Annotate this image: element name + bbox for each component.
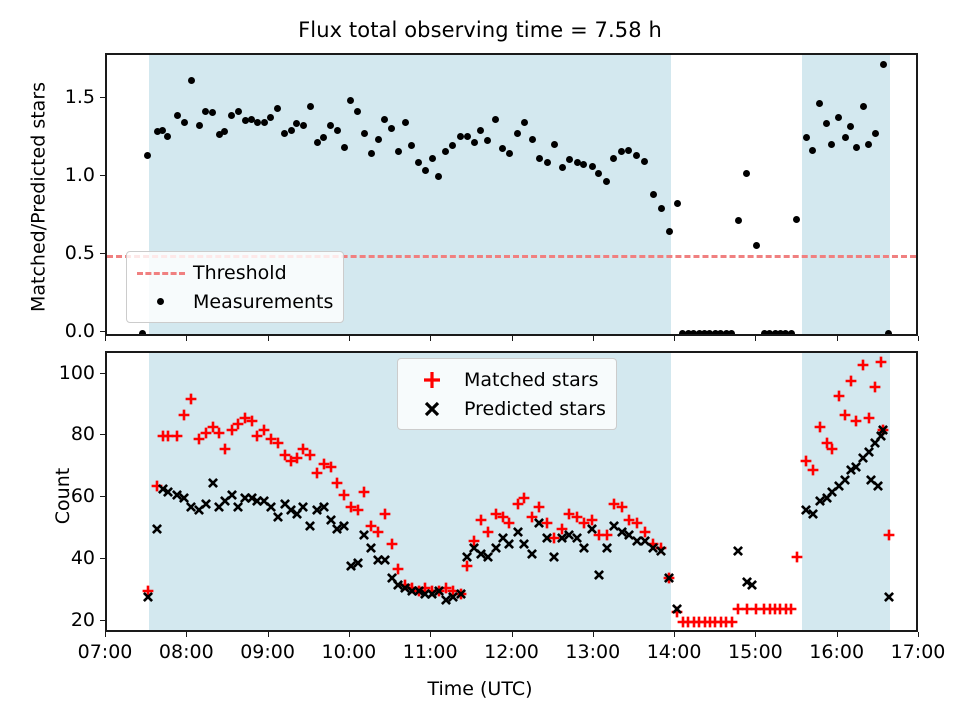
data-point-measurement: [666, 228, 673, 235]
x-axis-tick-bottom-4: [430, 632, 431, 637]
x-axis-tick-top-8: [755, 336, 756, 341]
x-axis-tick-bottom-2: [268, 632, 269, 637]
cross-marker-icon: [406, 397, 458, 421]
x-axis-tick-label: 16:00: [809, 641, 864, 663]
legend-label-matched-stars: Matched stars: [458, 369, 598, 391]
data-point-measurement: [327, 122, 334, 129]
data-point-measurement: [865, 141, 872, 148]
data-point-measurement: [492, 116, 499, 123]
data-point-measurement: [307, 103, 314, 110]
legend-label-threshold: Threshold: [187, 262, 287, 284]
data-point-measurement: [368, 150, 375, 157]
data-point-measurement: [650, 191, 657, 198]
x-axis-tick-label: 15:00: [728, 641, 783, 663]
x-axis-tick-label: 08:00: [159, 641, 214, 663]
top-panel-y-axis-tick-3: [100, 97, 105, 98]
bottom-panel-y-axis-tick-1: [100, 558, 105, 559]
data-point-measurement: [551, 141, 558, 148]
chart-title: Flux total observing time = 7.58 h: [0, 18, 960, 42]
data-point-measurement: [281, 130, 288, 137]
data-point-measurement: [381, 116, 388, 123]
top-panel-y-axis-tick-label: 0.0: [9, 320, 95, 342]
data-point-measurement: [354, 108, 361, 115]
data-point-measurement: [514, 130, 521, 137]
legend-item-predicted-stars: Predicted stars: [406, 394, 606, 423]
top-panel-y-axis-tick-label: 1.5: [9, 86, 95, 108]
x-axis-tick-top-1: [186, 336, 187, 341]
data-point-measurement: [793, 216, 800, 223]
data-point-measurement: [610, 155, 617, 162]
x-axis-label: Time (UTC): [0, 678, 960, 700]
data-point-measurement: [566, 156, 573, 163]
bottom-panel-legend: Matched stars Predicted stars: [397, 358, 617, 430]
plus-marker-icon: [406, 368, 458, 392]
data-point-measurement: [314, 139, 321, 146]
top-panel-y-axis-tick-2: [100, 175, 105, 176]
data-point-measurement: [625, 147, 632, 154]
x-axis-tick-bottom-6: [593, 632, 594, 637]
data-point-measurement: [658, 205, 665, 212]
bottom-panel-y-axis-tick-label: 80: [9, 423, 95, 445]
measurements-dot-icon: [135, 290, 187, 314]
data-point-measurement: [139, 330, 146, 336]
threshold-line-icon: [135, 261, 187, 285]
x-axis-tick-top-0: [105, 336, 106, 341]
x-axis-tick-top-3: [349, 336, 350, 341]
x-axis-tick-label: 12:00: [484, 641, 539, 663]
x-axis-tick-label: 17:00: [891, 641, 946, 663]
x-axis-tick-label: 14:00: [647, 641, 702, 663]
data-point-measurement: [885, 330, 892, 336]
data-point-measurement: [254, 119, 261, 126]
bottom-panel-y-axis-tick-label: 40: [9, 547, 95, 569]
bottom-panel-y-axis-tick-label: 20: [9, 609, 95, 631]
data-point-measurement: [529, 136, 536, 143]
x-axis-tick-bottom-1: [186, 632, 187, 637]
bottom-panel-y-axis-tick-0: [100, 620, 105, 621]
legend-item-threshold: Threshold: [135, 258, 333, 287]
data-point-measurement: [589, 163, 596, 170]
legend-label-predicted-stars: Predicted stars: [458, 398, 606, 420]
figure-container: Flux total observing time = 7.58 h Match…: [0, 0, 960, 720]
x-axis-tick-bottom-10: [918, 632, 919, 637]
x-axis-tick-label: 10:00: [322, 641, 377, 663]
data-point-measurement: [872, 130, 879, 137]
bottom-panel-y-axis-tick-4: [100, 373, 105, 374]
data-point-measurement: [181, 119, 188, 126]
data-point-measurement: [144, 152, 151, 159]
data-point-measurement: [361, 130, 368, 137]
x-axis-tick-top-5: [512, 336, 513, 341]
x-axis-tick-top-2: [268, 336, 269, 341]
x-axis-tick-bottom-7: [674, 632, 675, 637]
data-point-measurement: [388, 125, 395, 132]
bottom-panel-y-axis-tick-label: 60: [9, 485, 95, 507]
x-axis-tick-label: 07:00: [78, 641, 133, 663]
data-point-measurement: [429, 155, 436, 162]
x-axis-tick-label: 13:00: [565, 641, 620, 663]
data-point-measurement: [753, 242, 760, 249]
data-point-measurement: [402, 119, 409, 126]
data-point-measurement: [860, 103, 867, 110]
data-point-measurement: [521, 119, 528, 126]
top-panel-y-axis-tick-label: 1.0: [9, 164, 95, 186]
data-point-measurement: [274, 105, 281, 112]
legend-item-matched-stars: Matched stars: [406, 365, 606, 394]
top-panel-legend: Threshold Measurements: [126, 251, 344, 323]
x-axis-tick-bottom-3: [349, 632, 350, 637]
x-axis-tick-top-7: [674, 336, 675, 341]
data-point-measurement: [559, 164, 566, 171]
data-point-measurement: [288, 127, 295, 134]
shaded-span-2: [802, 55, 890, 334]
data-point-measurement: [743, 170, 750, 177]
bottom-panel-y-axis-tick-3: [100, 434, 105, 435]
data-point-measurement: [334, 127, 341, 134]
data-point-measurement: [880, 61, 887, 68]
bottom-panel-y-axis-tick-2: [100, 496, 105, 497]
top-panel-y-axis-tick-0: [100, 331, 105, 332]
bottom-panel-y-axis-tick-label: 100: [9, 362, 95, 384]
data-point-measurement: [196, 122, 203, 129]
data-point-measurement: [674, 200, 681, 207]
data-point-measurement: [633, 152, 640, 159]
top-panel-y-axis-tick-1: [100, 253, 105, 254]
data-point-measurement: [735, 217, 742, 224]
data-point-measurement: [375, 136, 382, 143]
data-point-measurement: [300, 122, 307, 129]
data-point-measurement: [471, 139, 478, 146]
x-axis-tick-top-10: [918, 336, 919, 341]
x-axis-tick-label: 11:00: [403, 641, 458, 663]
data-point-measurement: [261, 119, 268, 126]
top-panel-y-axis-tick-label: 0.5: [9, 242, 95, 264]
legend-label-measurements: Measurements: [187, 291, 333, 313]
legend-item-measurements: Measurements: [135, 287, 333, 316]
data-point-measurement: [464, 133, 471, 140]
x-axis-tick-top-4: [430, 336, 431, 341]
data-point-measurement: [506, 150, 513, 157]
x-axis-tick-bottom-0: [105, 632, 106, 637]
data-point-measurement: [728, 330, 735, 336]
x-axis-tick-bottom-8: [755, 632, 756, 637]
x-axis-tick-top-6: [593, 336, 594, 341]
x-axis-tick-top-9: [837, 336, 838, 341]
data-point-measurement: [188, 77, 195, 84]
data-point-measurement: [788, 330, 795, 336]
x-axis-tick-bottom-9: [837, 632, 838, 637]
data-point-measurement: [853, 144, 860, 151]
data-point-measurement: [235, 108, 242, 115]
data-point-measurement: [536, 155, 543, 162]
x-axis-tick-bottom-5: [512, 632, 513, 637]
x-axis-tick-label: 09:00: [240, 641, 295, 663]
data-point-measurement: [341, 144, 348, 151]
